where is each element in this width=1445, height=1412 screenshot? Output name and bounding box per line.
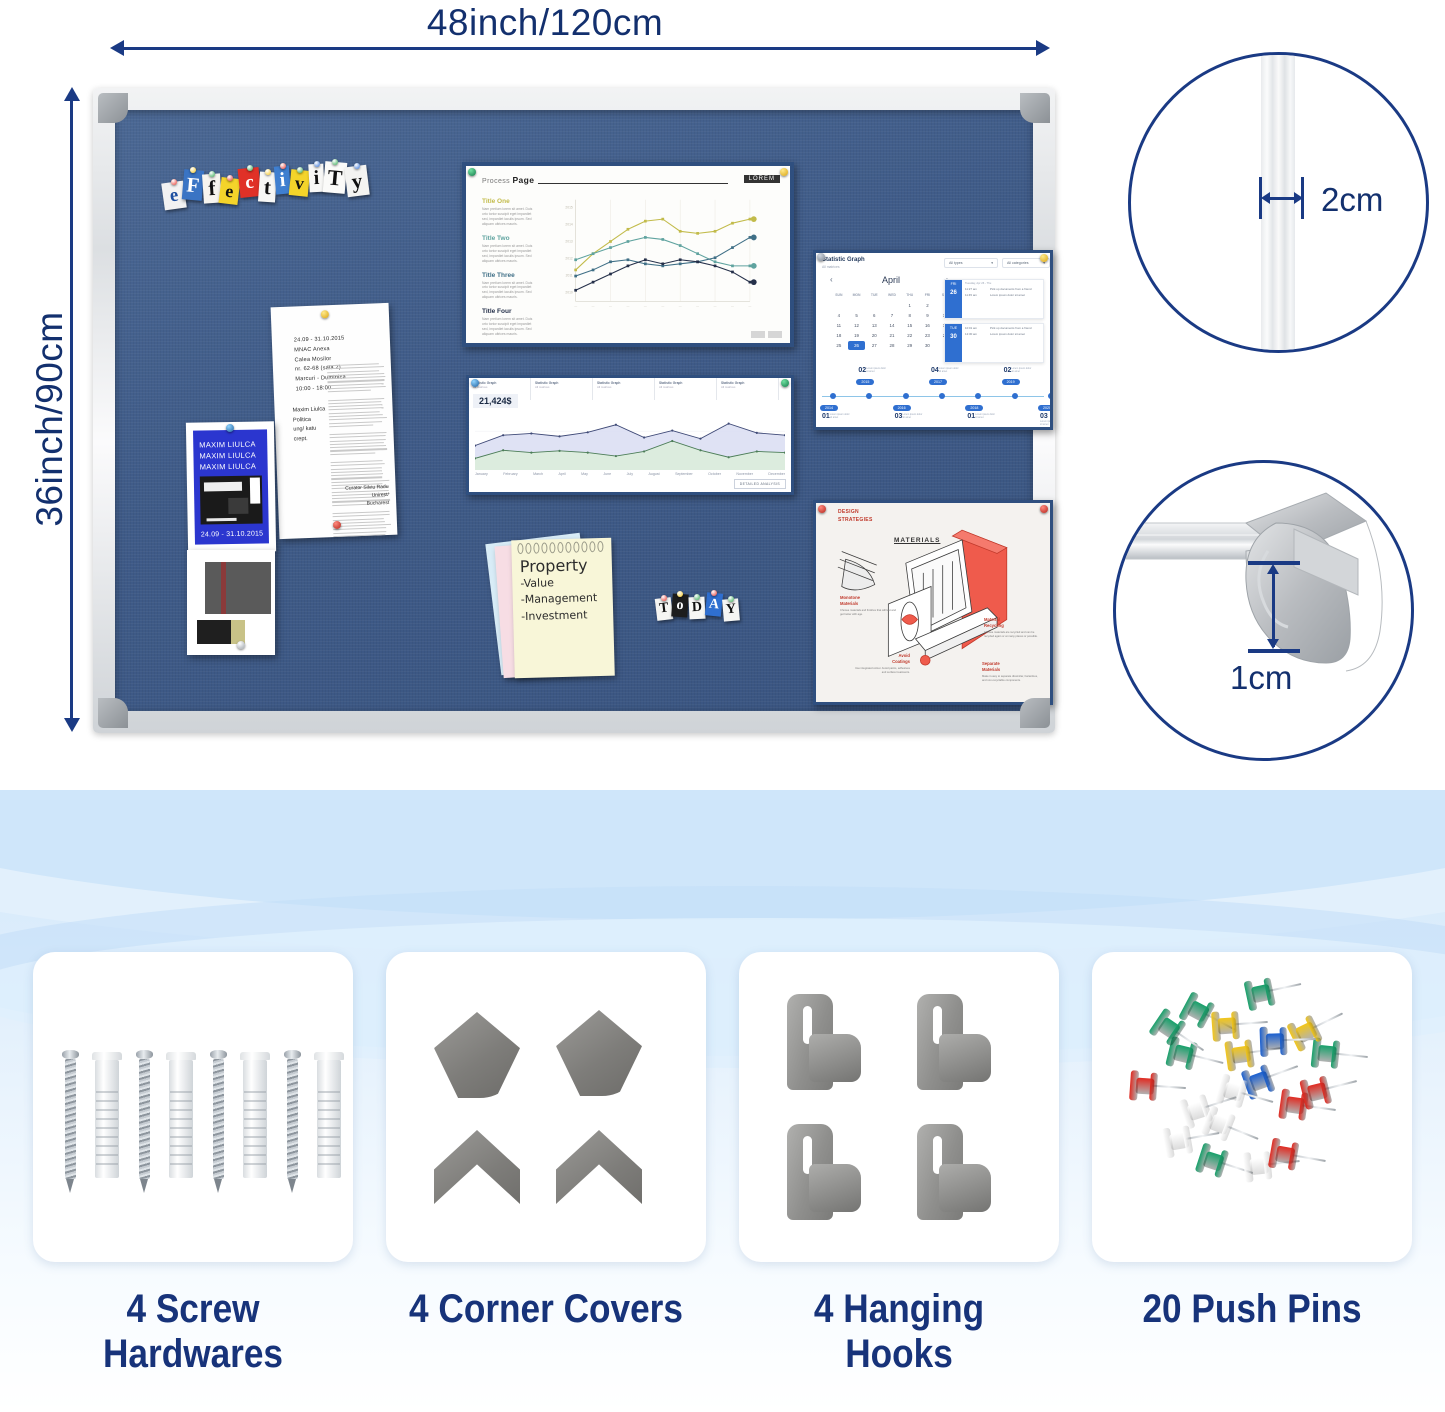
calendar-day[interactable]: 26 bbox=[848, 341, 866, 350]
ransom-letter: o bbox=[671, 593, 689, 617]
anchor-body bbox=[169, 1060, 193, 1178]
screw-shaft bbox=[65, 1059, 76, 1179]
screw-head bbox=[284, 1050, 301, 1059]
process-block: Title TwoNam pretium lorem sit amet. Dui… bbox=[482, 235, 538, 264]
screw-head bbox=[136, 1050, 153, 1059]
area-chart-svg bbox=[475, 412, 785, 470]
calendar-day[interactable]: 29 bbox=[901, 341, 919, 350]
calendar-day[interactable]: 2 bbox=[919, 301, 937, 310]
spiral-ring bbox=[589, 541, 595, 552]
svg-text:—: — bbox=[592, 304, 595, 308]
pushpin-green bbox=[781, 379, 789, 387]
process-block: Title ThreeNam pretium lorem sit amet. D… bbox=[482, 272, 538, 301]
svg-text:2013: 2013 bbox=[565, 239, 572, 243]
process-poster-title: Process Page bbox=[482, 175, 534, 185]
hanging-hook-3 bbox=[787, 1124, 861, 1220]
notepad-text: Property -Value -Management -Investment bbox=[520, 556, 598, 625]
calendar-day[interactable]: 14 bbox=[883, 321, 901, 330]
calendar-month-label: April bbox=[836, 275, 946, 285]
screw-tip bbox=[214, 1179, 222, 1193]
frame-thickness-label: 2cm bbox=[1321, 181, 1383, 219]
screw-tip bbox=[140, 1179, 148, 1193]
process-block-body: Nam pretium lorem sit amet. Duis orto to… bbox=[482, 317, 538, 337]
calendar-day[interactable]: 9 bbox=[919, 311, 937, 320]
area-poster-value: 21,424$ bbox=[473, 394, 518, 408]
calendar-dow: WED bbox=[883, 291, 901, 300]
svg-text:2015: 2015 bbox=[565, 206, 572, 210]
corner-height-label: 1cm bbox=[1230, 659, 1292, 697]
area-poster-tab[interactable]: Statistic GraphAll matrices bbox=[655, 378, 717, 400]
screw bbox=[287, 1050, 298, 1193]
pin-flange-bottom bbox=[1244, 1039, 1255, 1068]
calendar-day[interactable]: 30 bbox=[919, 341, 937, 350]
screw-shaft bbox=[139, 1059, 150, 1179]
timeline-dot bbox=[830, 393, 836, 399]
event-date-badge: TUE30 bbox=[945, 324, 962, 362]
calendar-dow: TUE bbox=[865, 291, 883, 300]
pushpin-yellow bbox=[321, 310, 329, 318]
pushpin bbox=[209, 171, 215, 177]
notepad-item-1: -Management bbox=[521, 590, 598, 608]
pushpin-yellow bbox=[1040, 254, 1048, 262]
calendar-day[interactable]: 27 bbox=[865, 341, 883, 350]
pin-flange-bottom bbox=[1182, 1125, 1194, 1154]
event-row: 11:27 amPick up documents from a friend bbox=[965, 287, 1040, 291]
svg-text:—: — bbox=[644, 304, 647, 308]
timeline-step: 02Lorem ipsum dolor sit amet bbox=[858, 367, 888, 374]
svg-text:—: — bbox=[661, 304, 664, 308]
process-chart-svg: 201020112012201320142015——————————— bbox=[548, 194, 764, 315]
board-corner-bottom-right bbox=[1020, 698, 1050, 728]
calendar-blank bbox=[883, 301, 901, 310]
calendar-day[interactable]: 18 bbox=[830, 331, 848, 340]
pushpin bbox=[247, 165, 253, 171]
timeline-year: 2020 bbox=[1038, 405, 1050, 411]
notepad-item-2: -Investment bbox=[521, 607, 598, 625]
corner-arrow-up bbox=[1267, 564, 1279, 574]
timeline-year: 2019 bbox=[1002, 379, 1020, 385]
wall-anchor bbox=[169, 1052, 193, 1178]
timeline-step: 01Lorem ipsum dolor sit amet bbox=[967, 413, 997, 420]
month-tick-label: September bbox=[675, 472, 693, 476]
pushpin-yellow bbox=[780, 168, 788, 176]
process-block-title: Title Two bbox=[482, 235, 538, 242]
notepad-sheet-front: Property -Value -Management -Investment bbox=[511, 538, 615, 679]
process-block-body: Nam pretium lorem sit amet. Duis orto to… bbox=[482, 281, 538, 301]
pushpin bbox=[694, 594, 700, 600]
board-corner-top-left bbox=[98, 93, 128, 123]
poster-maxim-liulca: MAXIM LIULCAMAXIM LIULCAMAXIM LIULCA 24.… bbox=[186, 421, 276, 553]
accessory-label-push-pins: 20 Push Pins bbox=[1111, 1287, 1393, 1332]
month-tick-label: May bbox=[581, 472, 588, 476]
svg-text:—: — bbox=[626, 304, 629, 308]
measure-arrow-right bbox=[1294, 192, 1303, 204]
document-text-line bbox=[330, 452, 375, 455]
event-date-badge: FRI26 bbox=[945, 280, 962, 318]
design-section-2: Avoid Coatings Use integrated colour. Av… bbox=[852, 653, 910, 675]
process-block-title: Title Three bbox=[482, 272, 538, 279]
corner-cover-round-1 bbox=[434, 1012, 520, 1098]
accessory-card-hanging-hooks bbox=[739, 952, 1059, 1262]
spiral-ring bbox=[517, 543, 523, 554]
maxim-poster-line: MAXIM LIULCA bbox=[200, 461, 257, 473]
board-corner-bottom-left bbox=[98, 698, 128, 728]
month-tick-label: April bbox=[559, 472, 566, 476]
pushpin bbox=[297, 167, 303, 173]
timeline-year: 2017 bbox=[929, 379, 947, 385]
calendar-poster-subtitle: All matrices bbox=[822, 265, 840, 269]
svg-text:2011: 2011 bbox=[566, 273, 573, 277]
event-row: 12:30 amLorem ipsum dolor sit amet bbox=[965, 332, 1040, 336]
accessory-card-corner-covers bbox=[386, 952, 706, 1262]
process-block: Title OneNam pretium lorem sit amet. Dui… bbox=[482, 198, 538, 227]
timeline-dot bbox=[866, 393, 872, 399]
process-block-title: Title Four bbox=[482, 308, 538, 315]
maxim-poster-line: MAXIM LIULCA bbox=[199, 450, 256, 462]
process-series-line bbox=[576, 237, 750, 276]
process-block-title: Title One bbox=[482, 198, 538, 205]
width-arrow-left-head bbox=[110, 40, 124, 56]
calendar-day[interactable]: 23 bbox=[919, 331, 937, 340]
wall-anchor bbox=[317, 1052, 341, 1178]
month-tick-label: January bbox=[475, 472, 488, 476]
pushpin-red bbox=[818, 505, 826, 513]
document-text-line bbox=[328, 390, 371, 393]
pushpin-blue bbox=[226, 424, 234, 432]
screw bbox=[213, 1050, 224, 1193]
timeline-axis bbox=[822, 396, 1044, 397]
calendar-day[interactable]: 13 bbox=[865, 321, 883, 330]
timeline-step: 01Lorem ipsum dolor sit amet bbox=[822, 413, 852, 420]
anchor-flange bbox=[314, 1052, 344, 1060]
ransom-letter: e bbox=[218, 177, 240, 205]
anchor-flange bbox=[166, 1052, 196, 1060]
corner-cover-round-2 bbox=[556, 1010, 642, 1096]
month-tick-label: June bbox=[603, 472, 611, 476]
calendar-day-grid[interactable]: SUNMONTUEWEDTHUFRISAT1234567891011121314… bbox=[830, 291, 954, 350]
pushpin-blue bbox=[471, 379, 479, 387]
calendar-day[interactable]: 4 bbox=[830, 311, 848, 320]
month-tick-label: February bbox=[503, 472, 517, 476]
svg-text:—: — bbox=[574, 304, 577, 308]
screw-head bbox=[210, 1050, 227, 1059]
corner-measure-line bbox=[1272, 567, 1275, 647]
document-signature: Curator Silviu Radu Unirest/ Bucharest bbox=[345, 483, 389, 509]
pushpin bbox=[677, 591, 683, 597]
process-poster-badge: LOREM bbox=[744, 175, 780, 183]
process-poster-footer bbox=[751, 331, 782, 338]
timeline-dot bbox=[903, 393, 909, 399]
timeline-year: 2016 bbox=[893, 405, 911, 411]
document-body-lines bbox=[327, 363, 392, 539]
pin-needle bbox=[1282, 1038, 1316, 1041]
spiral-ring bbox=[581, 541, 587, 552]
calendar-day[interactable]: 21 bbox=[883, 331, 901, 340]
pushpin-green bbox=[468, 168, 476, 176]
event-heading: Tuesday, Apr 26 - Thu bbox=[965, 282, 1040, 285]
calendar-day[interactable]: 7 bbox=[883, 311, 901, 320]
calendar-day[interactable]: 5 bbox=[848, 311, 866, 320]
svg-text:—: — bbox=[748, 304, 751, 308]
ransom-letter: F bbox=[182, 169, 205, 201]
corner-cover-illustration bbox=[1116, 463, 1411, 758]
area-poster-tab[interactable]: Statistic GraphAll matrices bbox=[593, 378, 655, 400]
calendar-day[interactable]: 12 bbox=[848, 321, 866, 330]
timeline-dot bbox=[1012, 393, 1018, 399]
today-letters: ToDAY bbox=[656, 590, 756, 626]
spiral-ring bbox=[525, 543, 531, 554]
anchor-flange bbox=[240, 1052, 270, 1060]
month-tick-label: December bbox=[768, 472, 785, 476]
screw-tip bbox=[288, 1179, 296, 1193]
maxim-poster-line: MAXIM LIULCA bbox=[199, 440, 256, 452]
pushpin-white bbox=[237, 641, 245, 649]
screw-head bbox=[62, 1050, 79, 1059]
timeline-step: 02Lorem ipsum dolor sit amet bbox=[1004, 367, 1034, 374]
calendar-day[interactable]: 15 bbox=[901, 321, 919, 330]
photo-sheet bbox=[187, 550, 275, 655]
pushpin bbox=[354, 163, 360, 169]
svg-text:—: — bbox=[696, 304, 699, 308]
calendar-dow: SUN bbox=[830, 291, 848, 300]
process-line-chart: 201020112012201320142015——————————— bbox=[548, 194, 764, 315]
screw bbox=[139, 1050, 150, 1193]
calendar-day[interactable]: 8 bbox=[901, 311, 919, 320]
detail-frame-thickness: 2cm bbox=[1128, 52, 1429, 353]
process-poster-rule bbox=[538, 183, 728, 184]
pin-flange-bottom bbox=[1231, 1011, 1240, 1039]
event-row: 11:45 amLorem ipsum dolor sit amet bbox=[965, 293, 1040, 297]
width-arrow-right-head bbox=[1036, 40, 1050, 56]
anchor-flange bbox=[92, 1052, 122, 1060]
document-press-release: 24.09 - 31.10.2015 MNAC Anexa Calea Mosi… bbox=[271, 303, 398, 539]
event-row: 10:01 amPick up documents from a friend bbox=[965, 326, 1040, 330]
calendar-timeline: 201401Lorem ipsum dolor sit amet201502Lo… bbox=[822, 369, 1044, 423]
hanging-hook-1 bbox=[787, 994, 861, 1090]
notepad-stack: Property -Value -Management -Investment bbox=[493, 535, 618, 680]
process-series-line bbox=[576, 237, 750, 265]
svg-text:—: — bbox=[679, 304, 682, 308]
filter-all-types[interactable]: All types▾ bbox=[944, 258, 998, 268]
poster-design-strategies: DESIGN STRATEGIES MATERIALS bbox=[813, 500, 1053, 705]
area-poster-tab[interactable]: Statistic GraphAll matrices bbox=[717, 378, 779, 400]
calendar-dow: MON bbox=[848, 291, 866, 300]
svg-text:—: — bbox=[714, 304, 717, 308]
accessory-card-push-pins bbox=[1092, 952, 1412, 1262]
screw bbox=[65, 1050, 76, 1193]
area-chart-month-labels: JanuaryFebruaryMarchAprilMayJuneJulyAugu… bbox=[475, 472, 785, 476]
ransom-letter: T bbox=[323, 161, 348, 194]
month-tick-label: November bbox=[736, 472, 753, 476]
process-block-body: Nam pretium lorem sit amet. Duis orto to… bbox=[482, 244, 538, 264]
pushpin bbox=[711, 590, 717, 596]
screw-shaft bbox=[287, 1059, 298, 1179]
poster-area-chart: Statistic GraphAll matricesStatistic Gra… bbox=[466, 375, 794, 495]
pushpin bbox=[190, 167, 196, 173]
document-text-line bbox=[328, 386, 386, 389]
spiral-ring bbox=[565, 542, 571, 553]
screw-tip bbox=[66, 1179, 74, 1193]
corner-cover-angular-1 bbox=[434, 1130, 520, 1216]
month-tick-label: July bbox=[627, 472, 633, 476]
maxim-poster-photo bbox=[200, 475, 263, 524]
month-tick-label: October bbox=[708, 472, 721, 476]
width-dimension-line bbox=[118, 47, 1041, 50]
svg-text:2010: 2010 bbox=[565, 290, 572, 294]
calendar-day[interactable]: 28 bbox=[883, 341, 901, 350]
wall-anchor bbox=[95, 1052, 119, 1178]
accessory-label-hanging-hooks: 4 Hanging Hooks bbox=[758, 1287, 1040, 1377]
calendar-dow: THU bbox=[901, 291, 919, 300]
document-text-line bbox=[329, 421, 382, 424]
product-dimension-section: 48inch/120cm 36inch/90cm eFfectiviTy Pro… bbox=[0, 0, 1445, 810]
anchor-body bbox=[317, 1060, 341, 1178]
pushpin-white bbox=[817, 253, 825, 261]
ransom-letter: D bbox=[688, 597, 705, 620]
calendar-day[interactable]: 25 bbox=[830, 341, 848, 350]
calendar-prev-button[interactable]: ‹ bbox=[830, 275, 833, 284]
poster-process-page: Process Page LOREM Title OneNam pretium … bbox=[462, 162, 794, 347]
spiral-ring bbox=[541, 542, 547, 553]
corner-measure-bottom bbox=[1248, 649, 1300, 653]
document-subheading: Maxim Liulca Politica ung/ katu crept. bbox=[292, 405, 326, 444]
event-body: 10:01 amPick up documents from a friend1… bbox=[962, 324, 1043, 362]
timeline-dot bbox=[939, 393, 945, 399]
pushpin bbox=[171, 179, 177, 185]
calendar-blank bbox=[830, 301, 848, 310]
notepad-spiral-binding bbox=[511, 541, 611, 553]
height-arrow-top-head bbox=[64, 87, 80, 101]
pushpin bbox=[314, 161, 320, 167]
anchor-body bbox=[243, 1060, 267, 1178]
spiral-ring bbox=[533, 543, 539, 554]
pushpin bbox=[227, 175, 233, 181]
calendar-day[interactable]: 16 bbox=[919, 321, 937, 330]
accessories-section: 4 Screw Hardwares 4 Corner Covers 4 Hang… bbox=[0, 790, 1445, 1412]
timeline-step: 04Lorem ipsum dolor sit amet bbox=[931, 367, 961, 374]
poster-calendar: Statistic Graph All matrices All types▾ … bbox=[813, 250, 1053, 430]
spiral-ring bbox=[573, 542, 579, 553]
ransom-letter: v bbox=[289, 169, 311, 197]
maxim-poster-date: 24.09 - 31.10.2015 bbox=[201, 530, 263, 538]
timeline-step: 03Lorem ipsum dolor sit amet bbox=[895, 413, 925, 420]
process-block: Title FourNam pretium lorem sit amet. Du… bbox=[482, 308, 538, 337]
pin-flange-bottom bbox=[1263, 977, 1276, 1006]
pushpin bbox=[265, 169, 271, 175]
calendar-event-card[interactable]: TUE3010:01 amPick up documents from a fr… bbox=[944, 323, 1044, 363]
board-width-label: 48inch/120cm bbox=[0, 2, 1090, 44]
design-section-1: Material Recycling Choose materials are … bbox=[984, 617, 1042, 639]
anchor-body bbox=[95, 1060, 119, 1178]
board-felt-surface: eFfectiviTy Process Page LOREM Title One… bbox=[115, 110, 1033, 711]
corner-arrow-down bbox=[1267, 639, 1279, 649]
timeline-dot bbox=[1048, 393, 1050, 399]
hanging-hook-2 bbox=[917, 994, 991, 1090]
document-text-line bbox=[329, 424, 373, 427]
timeline-year: 2018 bbox=[965, 405, 983, 411]
area-chart-plot bbox=[475, 412, 785, 470]
pushpin bbox=[332, 159, 338, 165]
screw-shaft bbox=[213, 1059, 224, 1179]
process-block-body: Nam pretium lorem sit amet. Duis orto to… bbox=[482, 207, 538, 227]
calendar-day[interactable]: 19 bbox=[848, 331, 866, 340]
calendar-blank bbox=[848, 301, 866, 310]
calendar-dow: FRI bbox=[919, 291, 937, 300]
pushpin bbox=[661, 595, 667, 601]
calendar-day[interactable]: 6 bbox=[865, 311, 883, 320]
effectivity-headline: eFfectiviTy bbox=[163, 162, 403, 224]
process-poster-text-blocks: Title OneNam pretium lorem sit amet. Dui… bbox=[482, 198, 538, 345]
board-height-label: 36inch/90cm bbox=[29, 219, 71, 619]
calendar-poster-title: Statistic Graph bbox=[822, 257, 865, 263]
timeline-step: 03Lorem ipsum dolor sit amet bbox=[1040, 413, 1050, 427]
notepad-item-0: -Value bbox=[520, 574, 597, 592]
svg-text:2014: 2014 bbox=[565, 223, 572, 227]
calendar-day[interactable]: 22 bbox=[901, 331, 919, 340]
spiral-ring bbox=[597, 541, 603, 552]
area-poster-tab[interactable]: Statistic GraphAll matrices bbox=[531, 378, 593, 400]
wall-anchor bbox=[243, 1052, 267, 1178]
pin-flange-bottom bbox=[1280, 1027, 1288, 1055]
push-pin bbox=[1297, 1065, 1362, 1112]
calendar-day[interactable]: 20 bbox=[865, 331, 883, 340]
timeline-year: 2015 bbox=[856, 379, 874, 385]
pin-flange-bottom bbox=[1149, 1073, 1158, 1101]
calendar-day[interactable]: 11 bbox=[830, 321, 848, 330]
bulletin-board: eFfectiviTy Process Page LOREM Title One… bbox=[93, 88, 1055, 733]
board-corner-top-right bbox=[1020, 93, 1050, 123]
accessory-label-corner-covers: 4 Corner Covers bbox=[405, 1287, 687, 1332]
process-series-line bbox=[576, 219, 750, 270]
document-text-line bbox=[330, 448, 387, 451]
hanging-hook-4 bbox=[917, 1124, 991, 1220]
spiral-ring bbox=[557, 542, 563, 553]
maxim-poster-title: MAXIM LIULCAMAXIM LIULCAMAXIM LIULCA bbox=[199, 440, 256, 474]
svg-text:—: — bbox=[609, 304, 612, 308]
month-tick-label: August bbox=[648, 472, 659, 476]
timeline-dot bbox=[975, 393, 981, 399]
height-dimension-line bbox=[70, 95, 73, 725]
pushpin-red bbox=[1040, 505, 1048, 513]
spiral-ring bbox=[549, 542, 555, 553]
pin-flange-bottom bbox=[1331, 1040, 1341, 1069]
height-arrow-bottom-head bbox=[64, 718, 80, 732]
detailed-analysis-button[interactable]: DETAILED ANALYSIS bbox=[734, 479, 786, 489]
calendar-event-card[interactable]: FRI26Tuesday, Apr 26 - Thu11:27 amPick u… bbox=[944, 279, 1044, 319]
svg-text:2012: 2012 bbox=[565, 256, 572, 260]
pushpin bbox=[280, 163, 286, 169]
month-tick-label: March bbox=[533, 472, 543, 476]
ransom-letter: y bbox=[344, 165, 369, 197]
accessory-label-screws: 4 Screw Hardwares bbox=[52, 1287, 334, 1377]
pushpin bbox=[728, 596, 734, 602]
design-section-3: Separate Materials Make it easy to separ… bbox=[982, 661, 1040, 683]
push-pin bbox=[1257, 1023, 1316, 1059]
notepad-title: Property bbox=[520, 556, 597, 576]
chevron-down-icon: ▾ bbox=[991, 261, 993, 265]
design-section-0: Monotone Materials Choose materials and … bbox=[840, 595, 898, 617]
accessory-card-screws bbox=[33, 952, 353, 1262]
event-body: Tuesday, Apr 26 - Thu11:27 amPick up doc… bbox=[962, 280, 1043, 318]
timeline-year: 2014 bbox=[820, 405, 838, 411]
detail-corner-cover: 1cm bbox=[1113, 460, 1414, 761]
calendar-blank bbox=[865, 301, 883, 310]
svg-text:—: — bbox=[731, 304, 734, 308]
measure-arrow-left bbox=[1261, 192, 1270, 204]
corner-cover-angular-2 bbox=[556, 1130, 642, 1216]
document-text-line bbox=[334, 537, 391, 539]
calendar-day[interactable]: 1 bbox=[901, 301, 919, 310]
